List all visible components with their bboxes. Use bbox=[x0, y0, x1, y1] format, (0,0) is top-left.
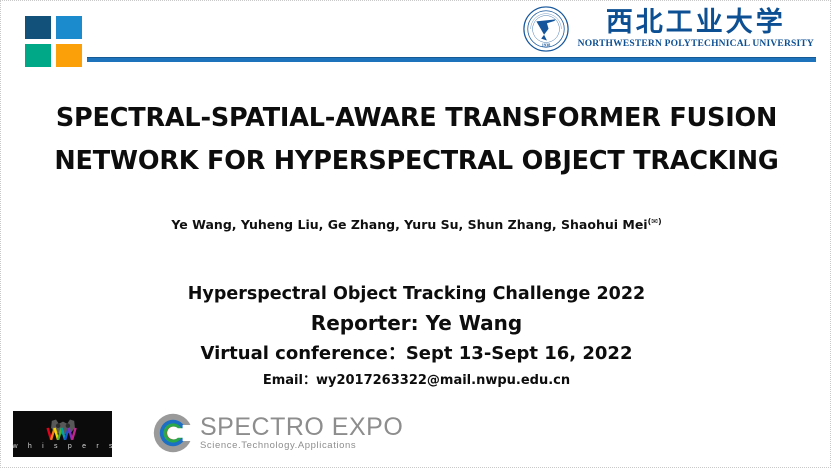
challenge-name: Hyperspectral Object Tracking Challenge … bbox=[1, 281, 831, 307]
university-logo: 1938 西北工业大学 NORTHWESTERN POLYTECHNICAL U… bbox=[522, 5, 814, 53]
svg-text:1938: 1938 bbox=[541, 42, 550, 47]
whispers-owl-icon bbox=[42, 418, 84, 442]
square-top-right-icon bbox=[56, 16, 82, 39]
spectro-expo-logo: SPECTRO EXPO Science.Technology.Applicat… bbox=[153, 413, 403, 453]
header-divider-rule bbox=[87, 57, 816, 62]
title-line-2: NETWORK FOR HYPERSPECTRAL OBJECT TRACKIN… bbox=[1, 140, 831, 183]
square-top-left-icon bbox=[25, 16, 51, 39]
spectro-expo-tagline: Science.Technology.Applications bbox=[200, 440, 403, 452]
author-names: Ye Wang, Yuheng Liu, Ge Zhang, Yuru Su, … bbox=[171, 217, 647, 232]
reporter-name: Reporter: Ye Wang bbox=[1, 307, 831, 339]
square-bottom-left-icon bbox=[25, 44, 51, 67]
university-emblem-icon: 1938 bbox=[522, 5, 570, 53]
square-bottom-right-icon bbox=[56, 44, 82, 67]
brand-squares-logo bbox=[25, 16, 82, 66]
title-line-1: SPECTRAL-SPATIAL-AWARE TRANSFORMER FUSIO… bbox=[1, 97, 831, 140]
spectro-expo-name: SPECTRO EXPO bbox=[200, 414, 403, 440]
conference-dates: Virtual conference：Sept 13-Sept 16, 2022 bbox=[1, 339, 831, 369]
presentation-slide: 1938 西北工业大学 NORTHWESTERN POLYTECHNICAL U… bbox=[0, 0, 831, 468]
corresponding-author-marker: (✉) bbox=[648, 217, 662, 226]
contact-email: Email：wy2017263322@mail.nwpu.edu.cn bbox=[1, 369, 831, 393]
meeting-info: Hyperspectral Object Tracking Challenge … bbox=[1, 281, 831, 393]
spectro-circle-icon bbox=[153, 413, 193, 453]
whispers-logo: w h i s p e r s bbox=[13, 411, 112, 457]
whispers-wordmark: w h i s p e r s bbox=[8, 443, 116, 450]
university-name-cn: 西北工业大学 bbox=[606, 9, 786, 37]
university-name-en: NORTHWESTERN POLYTECHNICAL UNIVERSITY bbox=[578, 39, 814, 49]
author-list: Ye Wang, Yuheng Liu, Ge Zhang, Yuru Su, … bbox=[1, 217, 831, 232]
slide-title: SPECTRAL-SPATIAL-AWARE TRANSFORMER FUSIO… bbox=[1, 97, 831, 183]
